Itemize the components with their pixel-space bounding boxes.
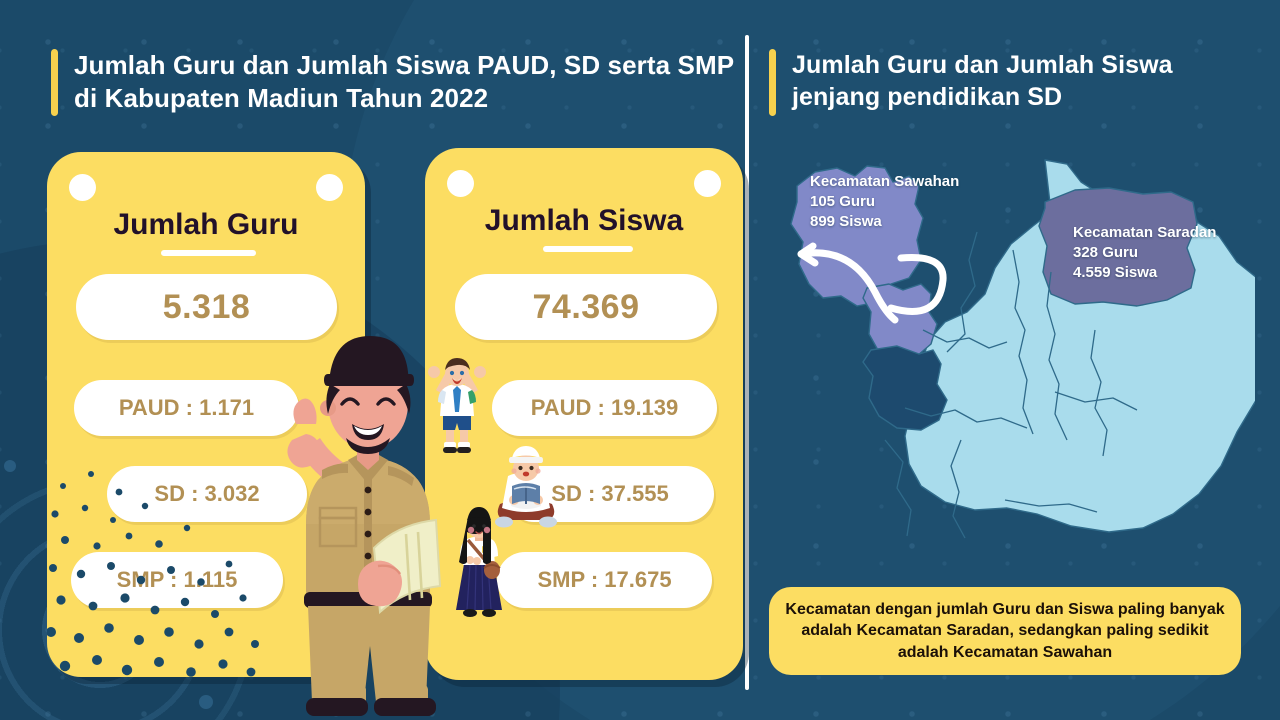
left-title-text: Jumlah Guru dan Jumlah Siswa PAUD, SD se… xyxy=(74,49,741,116)
siswa-row-paud: PAUD : 19.139 xyxy=(492,380,717,436)
card-title-guru: Jumlah Guru xyxy=(47,208,365,242)
panel-divider xyxy=(745,35,749,690)
siswa-row-smp: SMP : 17.675 xyxy=(497,552,712,608)
card-title-underline xyxy=(161,250,256,256)
saradan-siswa: 4.559 Siswa xyxy=(1073,263,1216,283)
guru-row-sd: SD : 3.032 xyxy=(107,466,307,522)
sawahan-guru: 105 Guru xyxy=(810,192,959,212)
guru-row-paud: PAUD : 1.171 xyxy=(74,380,299,436)
card-title-underline xyxy=(543,246,633,252)
map-summary-note: Kecamatan dengan jumlah Guru dan Siswa p… xyxy=(769,587,1241,675)
punch-hole-left-icon xyxy=(447,170,474,197)
stat-card-guru: Jumlah Guru 5.318 PAUD : 1.171 SD : 3.03… xyxy=(47,152,365,677)
title-accent-bar xyxy=(51,49,58,116)
map-summary-note-text: Kecamatan dengan jumlah Guru dan Siswa p… xyxy=(785,599,1225,663)
saradan-name: Kecamatan Saradan xyxy=(1073,223,1216,243)
punch-hole-left-icon xyxy=(69,174,96,201)
saradan-guru: 328 Guru xyxy=(1073,243,1216,263)
stat-card-siswa: Jumlah Siswa 74.369 PAUD : 19.139 SD : 3… xyxy=(425,148,743,680)
punch-hole-right-icon xyxy=(316,174,343,201)
map-label-saradan: Kecamatan Saradan 328 Guru 4.559 Siswa xyxy=(1073,223,1216,283)
siswa-row-sd: SD : 37.555 xyxy=(506,466,714,522)
title-accent-bar xyxy=(769,49,776,116)
right-title-text: Jumlah Guru dan Jumlah Siswa jenjang pen… xyxy=(792,49,1239,113)
left-panel-title: Jumlah Guru dan Jumlah Siswa PAUD, SD se… xyxy=(51,49,741,116)
map-label-sawahan: Kecamatan Sawahan 105 Guru 899 Siswa xyxy=(810,172,959,232)
right-panel-title: Jumlah Guru dan Jumlah Siswa jenjang pen… xyxy=(769,49,1239,116)
sawahan-siswa: 899 Siswa xyxy=(810,212,959,232)
punch-hole-right-icon xyxy=(694,170,721,197)
sawahan-name: Kecamatan Sawahan xyxy=(810,172,959,192)
guru-total-value: 5.318 xyxy=(76,274,337,340)
map-region-enclave-kota-madiun xyxy=(863,346,947,430)
card-title-siswa: Jumlah Siswa xyxy=(425,204,743,238)
siswa-total-value: 74.369 xyxy=(455,274,717,340)
guru-row-smp: SMP : 1.115 xyxy=(71,552,283,608)
infographic-canvas: Jumlah Guru dan Jumlah Siswa PAUD, SD se… xyxy=(0,0,1280,720)
